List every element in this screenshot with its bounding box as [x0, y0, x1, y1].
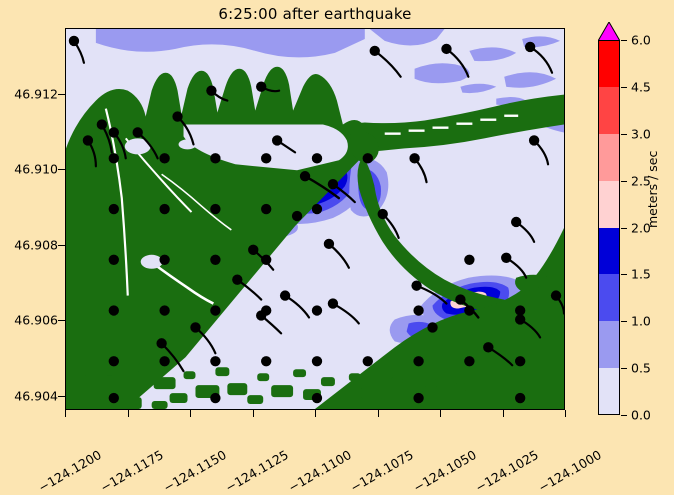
x-tick-label: −124.1200 [36, 447, 104, 495]
x-tick-label: −124.1175 [98, 447, 166, 495]
y-tick-label: 46.908 [14, 237, 58, 252]
colorbar[interactable] [598, 40, 620, 415]
x-tick-label: −124.1000 [536, 447, 604, 495]
colorbar-tick-label: 4.5 [631, 79, 651, 94]
figure-canvas: 6:25:00 after earthquake [0, 0, 674, 463]
colorbar-segment [598, 40, 620, 87]
colorbar-tick-label: 3.0 [631, 126, 651, 141]
colorbar-segment [598, 368, 620, 415]
colorbar-tick-label: 0.5 [631, 361, 651, 376]
page-title: 6:25:00 after earthquake [65, 5, 565, 23]
x-axis: −124.1200 −124.1175 −124.1150 −124.1125 … [65, 412, 565, 462]
colorbar-segment [598, 181, 620, 228]
y-tick-label: 46.906 [14, 313, 58, 328]
y-axis: 46.912 46.910 46.908 46.906 46.904 [0, 28, 58, 410]
x-tick-label: −124.1125 [223, 447, 291, 495]
colorbar-segment [598, 321, 620, 368]
x-tick-label: −124.1050 [411, 447, 479, 495]
x-tick-label: −124.1075 [348, 447, 416, 495]
y-tick-label: 46.904 [14, 389, 58, 404]
colorbar-segment [598, 87, 620, 134]
colorbar-axis-label: meters / sec [645, 151, 660, 228]
colorbar-segment [598, 134, 620, 181]
colorbar-segment [598, 274, 620, 321]
colorbar-tick-label: 0.0 [631, 408, 651, 423]
y-tick-label: 46.912 [14, 86, 58, 101]
colorbar-tick-label: 6.0 [631, 33, 651, 48]
x-tick-label: −124.1025 [473, 447, 541, 495]
colorbar-tick-label: 1.0 [631, 314, 651, 329]
colorbar-extend-arrow [598, 22, 620, 41]
velocity-particle-layer [66, 29, 564, 409]
x-tick-label: −124.1100 [286, 447, 354, 495]
y-tick-marks [58, 28, 65, 410]
x-tick-label: −124.1150 [161, 447, 229, 495]
colorbar-tick-label: 1.5 [631, 267, 651, 282]
colorbar-segment [598, 228, 620, 275]
y-tick-label: 46.910 [14, 162, 58, 177]
map-axes[interactable] [65, 28, 565, 410]
